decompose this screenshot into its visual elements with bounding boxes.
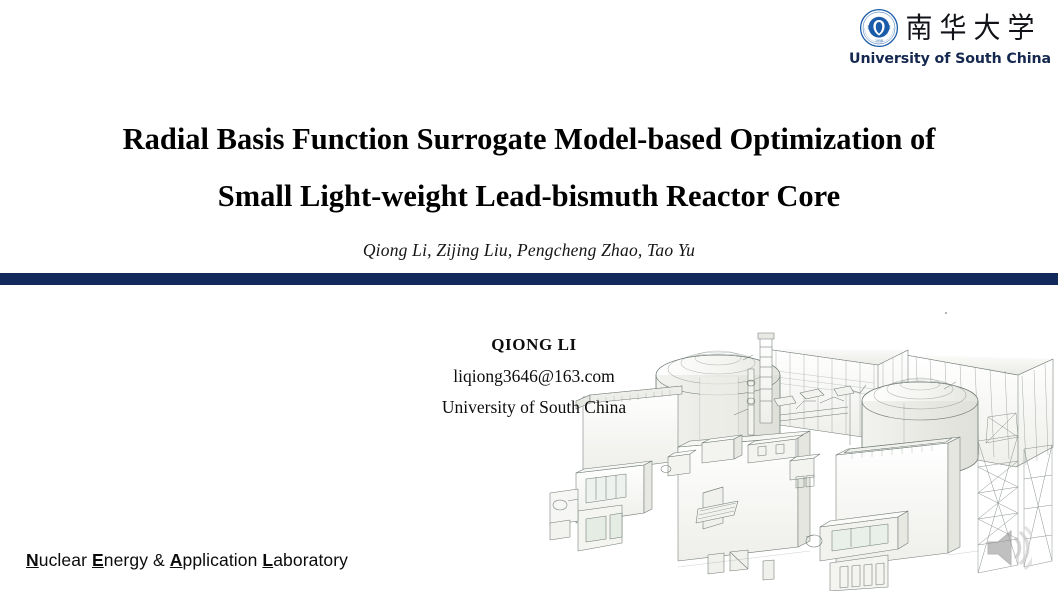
logo-row: 1958 南华大学	[859, 6, 1042, 50]
presenter-email: liqiong3646@163.com	[404, 366, 664, 387]
presenter-name: QIONG LI	[404, 335, 664, 355]
slide-body: QIONG LI liqiong3646@163.com University …	[0, 285, 1058, 591]
slide-title: Radial Basis Function Surrogate Model-ba…	[0, 124, 1058, 211]
footer-word-energy: nergy &	[104, 550, 170, 570]
logo-english-name: University of South China	[849, 51, 1051, 67]
presenter-contact-block: QIONG LI liqiong3646@163.com University …	[404, 335, 664, 418]
logo-chinese-name: 南华大学	[906, 14, 1042, 43]
footer-word-application: pplication	[183, 550, 263, 570]
svg-text:1958: 1958	[874, 39, 882, 43]
university-emblem-icon: 1958	[859, 8, 899, 48]
presenter-organization: University of South China	[404, 397, 664, 418]
presentation-title-slide: 1958 南华大学 University of South China Radi…	[0, 0, 1058, 591]
footer-word-laboratory: aboratory	[273, 550, 348, 570]
slide-title-line-2: Small Light-weight Lead-bismuth Reactor …	[0, 181, 1058, 212]
footer-initial-a: A	[170, 550, 183, 570]
footer-initial-l: L	[262, 550, 273, 570]
footer-initial-n: N	[26, 550, 39, 570]
author-list: Qiong Li, Zijing Liu, Pengcheng Zhao, Ta…	[0, 240, 1058, 261]
slide-title-line-1: Radial Basis Function Surrogate Model-ba…	[0, 124, 1058, 155]
speaker-icon[interactable]	[984, 526, 1032, 570]
footer-word-nuclear: uclear	[39, 550, 92, 570]
university-logo: 1958 南华大学 University of South China	[850, 6, 1050, 74]
lab-name-footer: Nuclear Energy & Application Laboratory	[26, 550, 348, 571]
header-divider-bar	[0, 273, 1058, 285]
footer-initial-e: E	[92, 550, 104, 570]
